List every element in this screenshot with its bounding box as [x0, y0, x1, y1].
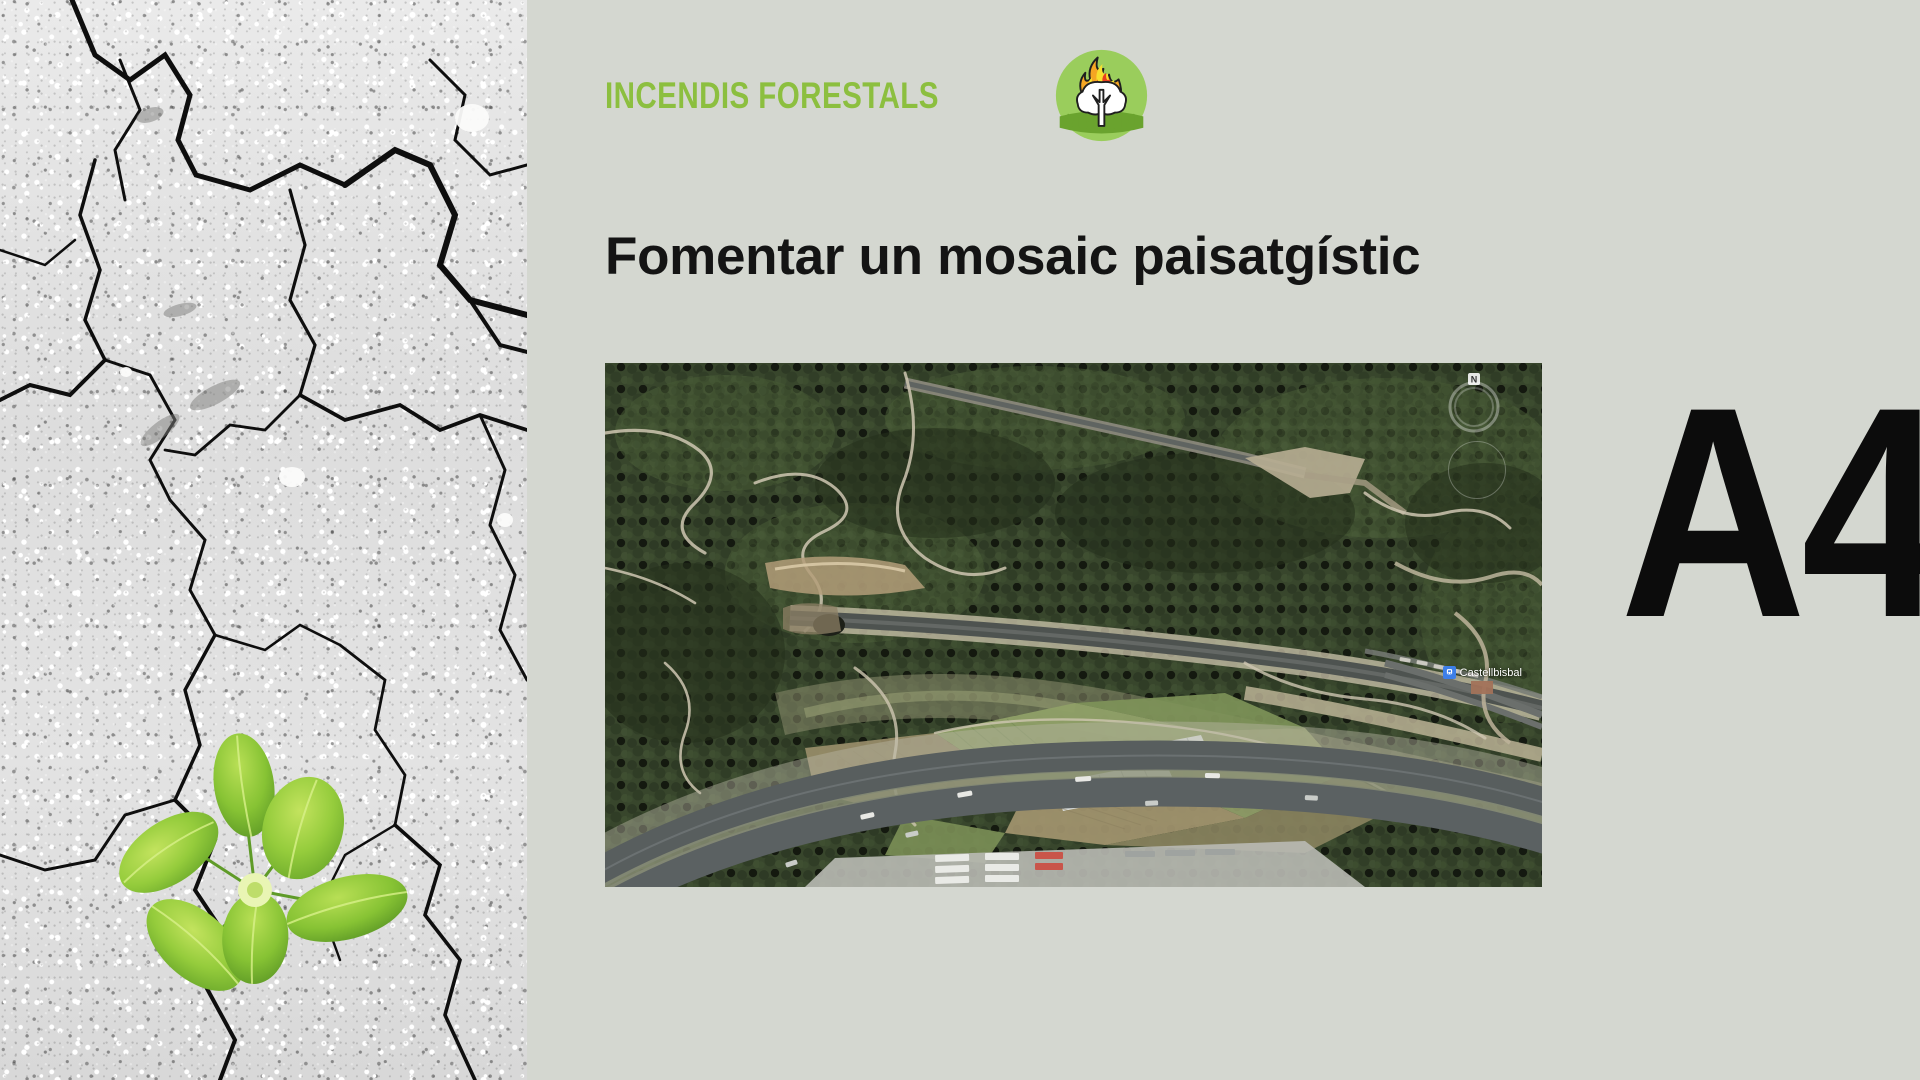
aerial-map-image[interactable]: N Castellbisbal — [605, 363, 1542, 887]
left-photo-panel — [0, 0, 527, 1080]
brand-header: INCENDIS FORESTALS — [605, 48, 1149, 143]
seedling-plant — [95, 730, 425, 1030]
map-canvas — [605, 363, 1542, 887]
page-title: Fomentar un mosaic paisatgístic — [605, 228, 1420, 286]
map-place-label: Castellbisbal — [1443, 666, 1522, 679]
map-place-name: Castellbisbal — [1460, 667, 1522, 679]
svg-text:N: N — [1471, 375, 1478, 385]
compass-icon[interactable]: N — [1442, 371, 1506, 435]
brand-title: INCENDIS FORESTALS — [605, 77, 939, 114]
slide-code-label: A4 — [1620, 395, 1920, 629]
train-station-icon — [1443, 666, 1456, 679]
map-zoom-ring[interactable] — [1448, 441, 1506, 499]
burning-tree-logo-icon — [1054, 48, 1149, 143]
slide-root: INCENDIS FORESTALS Fomentar u — [0, 0, 1920, 1080]
